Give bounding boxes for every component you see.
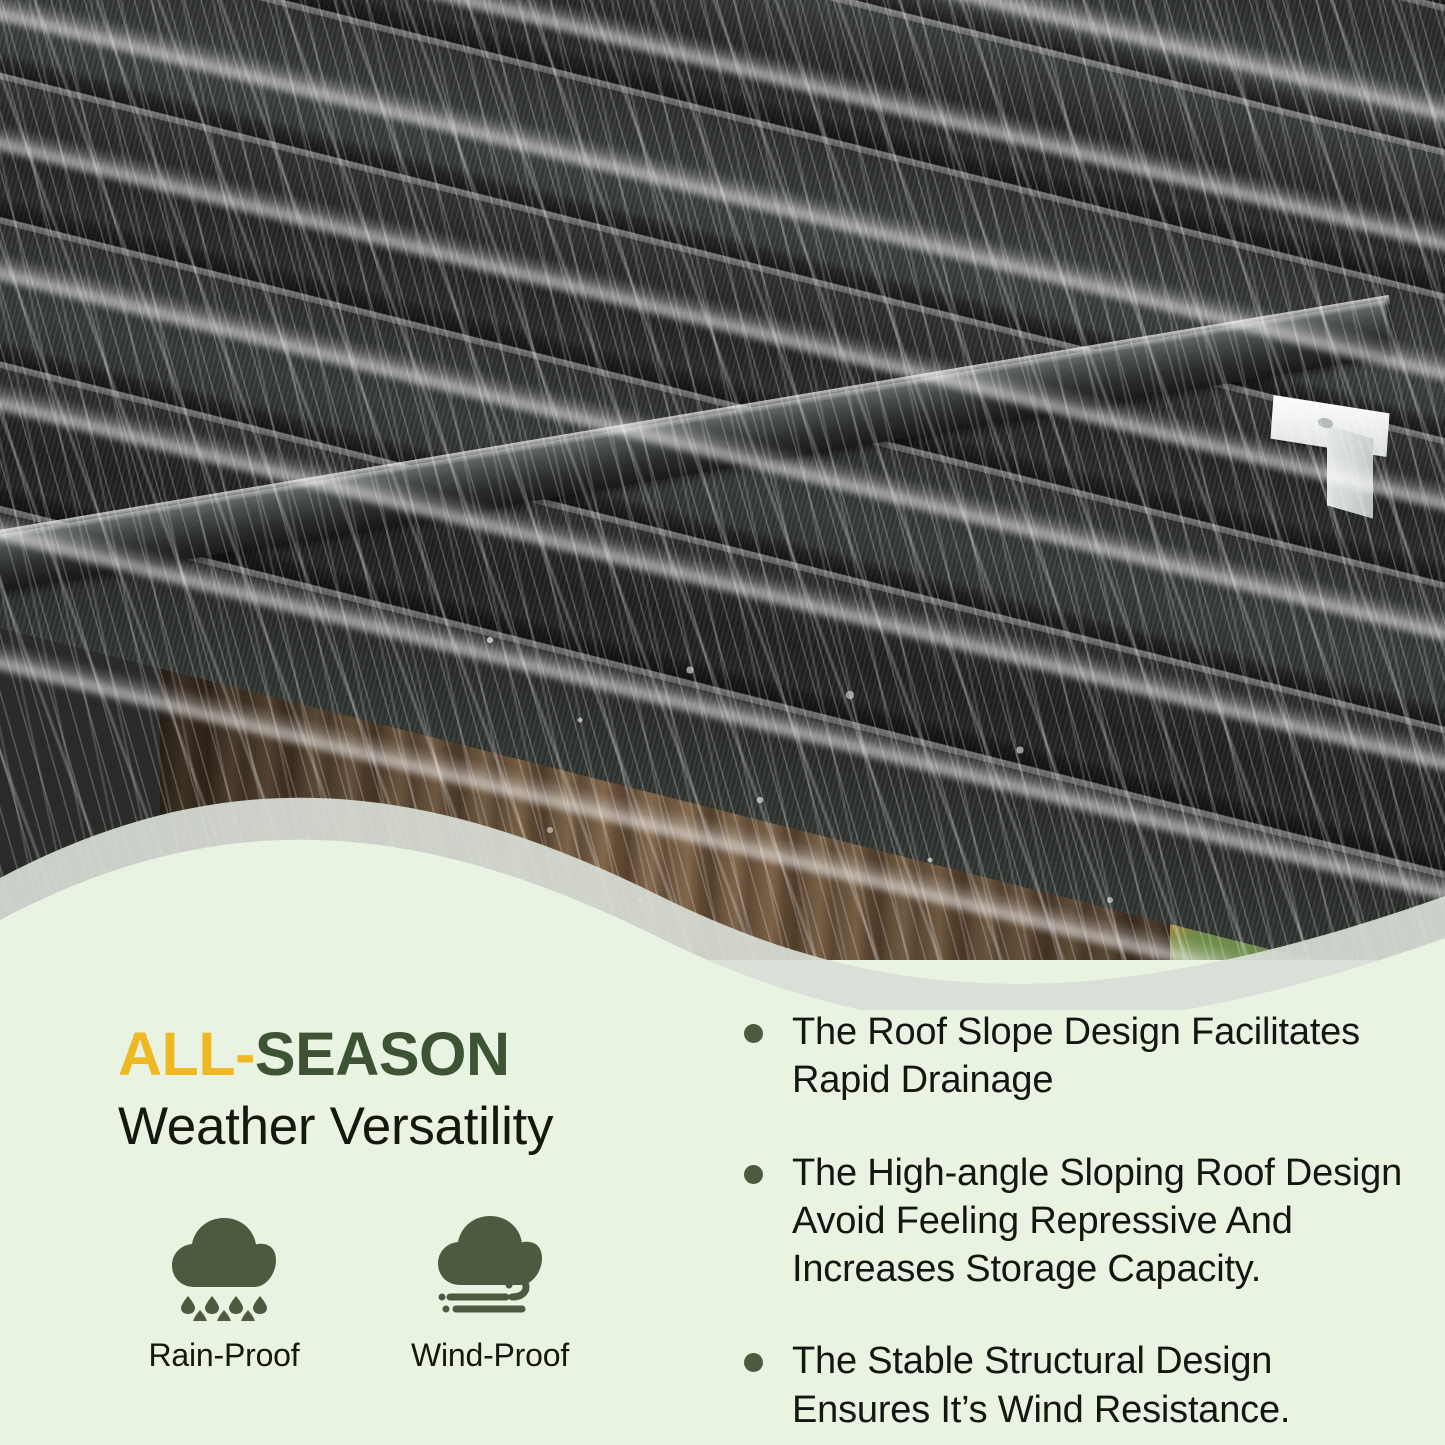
bullet-text: The High-angle Sloping Roof Design Avoid… <box>792 1149 1404 1294</box>
headline-block: ALL-SEASON Weather Versatility <box>118 1022 678 1156</box>
wave-divider <box>0 770 1445 1030</box>
wind-cloud-icon <box>434 1215 546 1321</box>
feature-icon-row: Rain-Proof Wind-Proof <box>150 1215 564 1374</box>
white-mounting-bracket-side <box>1327 425 1373 518</box>
feature-wind-proof: Wind-Proof <box>416 1215 564 1374</box>
bullet-dot-icon <box>744 1353 763 1372</box>
feature-rain-proof: Rain-Proof <box>150 1215 298 1374</box>
list-item: The Stable Structural Design Ensures It’… <box>744 1337 1404 1434</box>
page-title: ALL-SEASON <box>118 1022 678 1086</box>
headline-main-text: SEASON <box>255 1020 510 1088</box>
list-item: The Roof Slope Design Facilitates Rapid … <box>744 1008 1404 1105</box>
feature-label: Rain-Proof <box>149 1337 300 1374</box>
product-feature-card: ALL-SEASON Weather Versatility <box>0 0 1445 1445</box>
page-subtitle: Weather Versatility <box>118 1098 678 1156</box>
bullet-text: The Roof Slope Design Facilitates Rapid … <box>792 1008 1404 1105</box>
bullet-dot-icon <box>744 1024 763 1043</box>
feature-label: Wind-Proof <box>411 1337 569 1374</box>
bullet-dot-icon <box>744 1165 763 1184</box>
headline-accent-text: ALL- <box>118 1020 255 1088</box>
bullet-text: The Stable Structural Design Ensures It’… <box>792 1337 1404 1434</box>
list-item: The High-angle Sloping Roof Design Avoid… <box>744 1149 1404 1294</box>
feature-bullet-list: The Roof Slope Design Facilitates Rapid … <box>744 1008 1404 1434</box>
rain-cloud-icon <box>168 1215 280 1321</box>
